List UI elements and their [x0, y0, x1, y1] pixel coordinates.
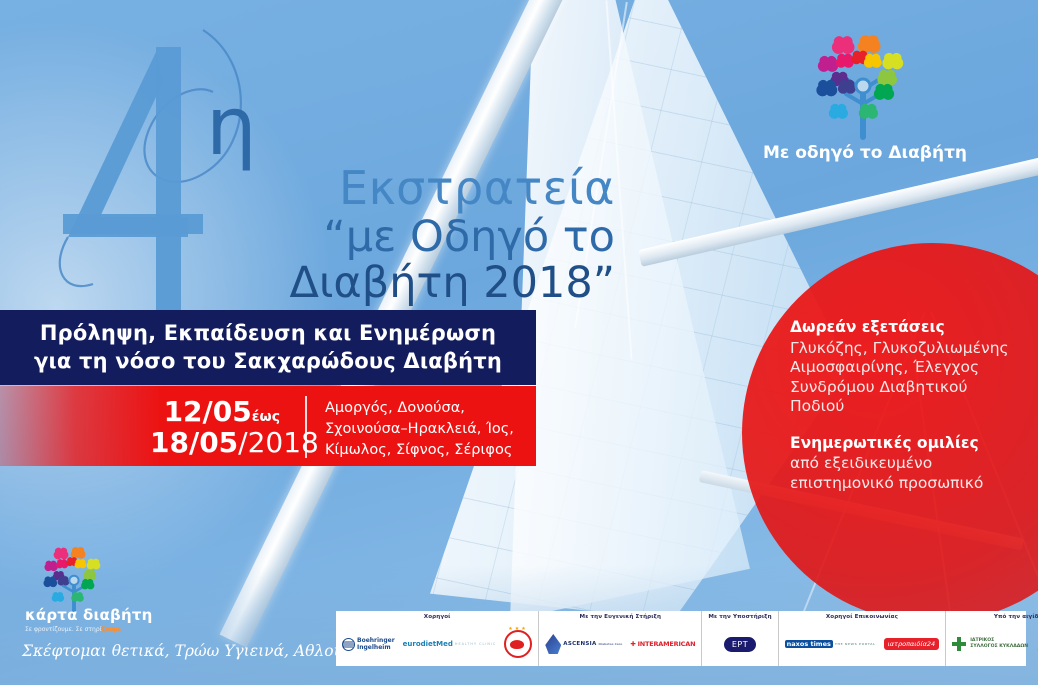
sponsor-logos: Boehringer Ingelheim eurodietMed HEALTHY…: [342, 622, 532, 666]
interamerican-logo[interactable]: ✚ INTERAMERICAN: [630, 640, 695, 648]
sponsor-category-label: Χορηγοί Επικοινωνίας: [826, 614, 898, 620]
karta-subtitle-b: ζουμε: [102, 626, 121, 633]
karta-name: κάρτα διαβήτη: [25, 606, 165, 624]
date-from: 12/05: [164, 395, 252, 428]
sponsor-group-horigoi: Χορηγοί Boehringer Ingelheim eurodietMed…: [336, 611, 539, 666]
naxos-times-tagline: THE NEWS PORTAL: [835, 642, 876, 646]
date-to-row: 18/05/2018: [150, 427, 280, 458]
text-spacer: [790, 417, 1015, 434]
poster-canvas: Δωρεάν εξετάσεις Γλυκόζης, Γλυκοζυλιωμέν…: [0, 0, 1038, 685]
free-tests-line-3: Συνδρόμου Διαβητικού: [790, 378, 1015, 398]
navy-line-2: για τη νόσο του Σακχαρώδους Διαβήτη: [34, 348, 502, 376]
sponsor-category-label: Χορηγοί: [424, 614, 451, 620]
edition-suffix-glyph: η: [206, 80, 257, 173]
top-logo-caption: Με οδηγό το Διαβήτη: [760, 143, 970, 163]
locations-line-3: Κίμωλος, Σίφνος, Σέριφος: [325, 440, 535, 461]
navy-line-1: Πρόληψη, Εκπαίδευση και Ενημέρωση: [40, 320, 496, 348]
iatrikos-syllogos-logo[interactable]: ΙΑΤΡΙΚΟΣ ΣΥΛΛΟΓΟΣ ΚΥΚΛΑΔΩΝ: [952, 637, 1028, 651]
iatrikos-text: ΙΑΤΡΙΚΟΣ ΣΥΛΛΟΓΟΣ ΚΥΚΛΑΔΩΝ: [970, 638, 1028, 649]
medical-cross-icon: [952, 637, 966, 651]
services-text-block: Δωρεάν εξετάσεις Γλυκόζης, Γλυκοζυλιωμέν…: [790, 318, 1015, 493]
locations-line-2: Σχοινούσα–Ηρακλειά, Ίος,: [325, 419, 535, 440]
boehringer-mark-icon: [342, 638, 355, 651]
free-tests-line-2: Αιμοσφαιρίνης, Έλεγχος: [790, 358, 1015, 378]
sponsor-logos: ASCENSIA Diabetes Care ✚ INTERAMERICAN: [545, 622, 695, 666]
campaign-title-line-3: Διαβήτη 2018”: [155, 262, 615, 306]
ert-logo[interactable]: ΕΡΤ: [724, 637, 756, 652]
emblem-stars-icon: ★★★: [508, 626, 527, 632]
talks-line-2: επιστημονικό προσωπικό: [790, 474, 1015, 494]
karta-subtitle-a: Σε φροντίζουμε. Σε στηρί: [25, 626, 102, 633]
date-connector: έως: [252, 409, 280, 425]
iatropedia-logo[interactable]: ιατροπαιδία24: [884, 638, 940, 650]
boehringer-ingelheim-logo[interactable]: Boehringer Ingelheim: [342, 637, 395, 651]
sponsor-group-ypostirixi: Με την Υποστήριξη ΕΡΤ: [702, 611, 778, 666]
sponsor-group-evgeniki-stirixi: Με την Ευγενική Στήριξη ASCENSIA Diabete…: [539, 611, 702, 666]
naxos-times-name: naxos times: [785, 640, 833, 648]
eurodietmed-name: eurodietMed: [403, 640, 453, 648]
interamerican-dot-icon: ✚: [630, 640, 635, 648]
sponsor-category-label: Με την Ευγενική Στήριξη: [580, 614, 662, 620]
sponsor-group-epikoinonias: Χορηγοί Επικοινωνίας naxos times THE NEW…: [779, 611, 947, 666]
ascensia-logo[interactable]: ASCENSIA Diabetes Care: [545, 634, 622, 654]
ascensia-name: ASCENSIA: [563, 641, 596, 647]
ascensia-drop-icon: [545, 634, 561, 654]
heart-tree-icon: [816, 35, 903, 140]
sponsor-group-aigida: Υπό την αιγίδα ΙΑΤΡΙΚΟΣ ΣΥΛΛΟΓΟΣ ΚΥΚΛΑΔΩ…: [946, 611, 1038, 666]
free-tests-line-4: Ποδιού: [790, 397, 1015, 417]
heart-tree-logo-top: [808, 32, 918, 142]
sponsor-bar: Χορηγοί Boehringer Ingelheim eurodietMed…: [336, 611, 1026, 666]
locations-line-1: Αμοργός, Δονούσα,: [325, 398, 535, 419]
olympiacos-emblem-icon[interactable]: ★★★: [504, 630, 532, 658]
interamerican-name: INTERAMERICAN: [638, 640, 696, 648]
naxos-times-logo[interactable]: naxos times THE NEWS PORTAL: [785, 640, 876, 648]
sponsor-category-label: Υπό την αιγίδα: [994, 614, 1038, 620]
date-range: 12/05έως 18/05/2018: [150, 396, 280, 459]
campaign-title-line-1: Εκστρατεία: [155, 165, 615, 212]
talks-heading: Ενημερωτικές ομιλίες: [790, 434, 1015, 454]
free-tests-line-1: Γλυκόζης, Γλυκοζυλιωμένης: [790, 339, 1015, 359]
boehringer-text: Boehringer Ingelheim: [357, 637, 395, 651]
sponsor-logos: naxos times THE NEWS PORTAL ιατροπαιδία2…: [785, 622, 940, 666]
campaign-title: Εκστρατεία “με Οδηγό το Διαβήτη 2018”: [155, 165, 615, 306]
ascensia-tagline: Diabetes Care: [599, 642, 623, 646]
eurodietmed-logo[interactable]: eurodietMed HEALTHY CLINIC: [403, 640, 497, 648]
sponsor-logos: ΙΑΤΡΙΚΟΣ ΣΥΛΛΟΓΟΣ ΚΥΚΛΑΔΩΝ: [952, 622, 1038, 666]
karta-subtitle: Σε φροντίζουμε. Σε στηρίζουμε: [25, 626, 165, 633]
date-to: 18/05: [150, 426, 238, 459]
sponsor-logos: ΕΡΤ: [724, 622, 756, 666]
locations-list: Αμοργός, Δονούσα, Σχοινούσα–Ηρακλειά, Ίο…: [325, 398, 535, 461]
sponsor-category-label: Με την Υποστήριξη: [708, 614, 771, 620]
talks-line-1: από εξειδικευμένο: [790, 454, 1015, 474]
eurodietmed-tagline: HEALTHY CLINIC: [455, 642, 496, 646]
band-divider: [305, 396, 307, 458]
free-tests-heading: Δωρεάν εξετάσεις: [790, 318, 1015, 338]
campaign-title-line-2: “με Οδηγό το: [155, 216, 615, 260]
karta-diaviti-logo: κάρτα διαβήτη Σε φροντίζουμε. Σε στηρίζο…: [25, 606, 165, 633]
navy-subtitle-band: Πρόληψη, Εκπαίδευση και Ενημέρωση για τη…: [0, 310, 536, 385]
date-from-row: 12/05έως: [150, 396, 280, 427]
